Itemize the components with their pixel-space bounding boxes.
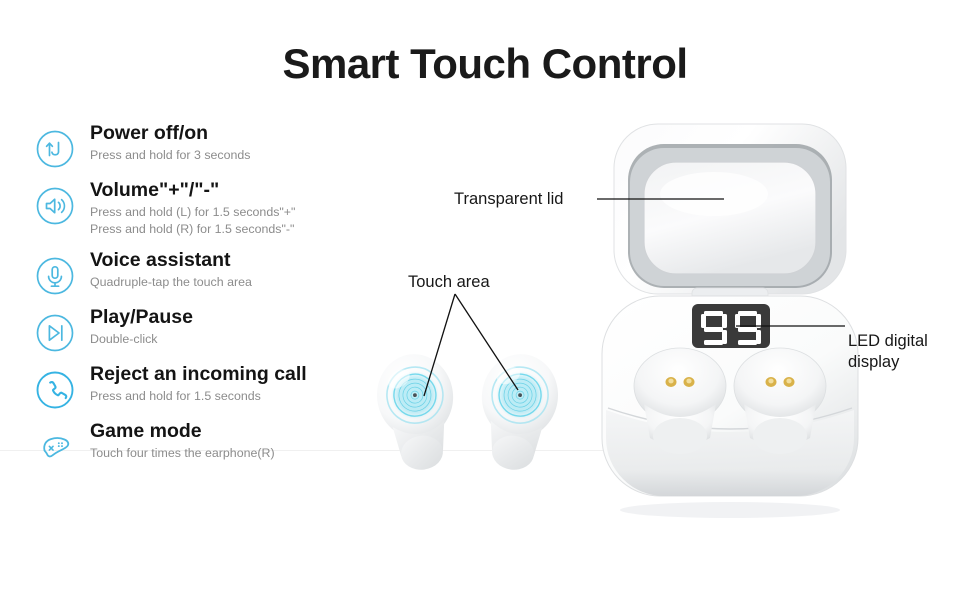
feature-subtitle: Press and hold for 3 seconds [90,147,368,164]
feature-subtitle-second: Press and hold (R) for 1.5 seconds"-" [90,221,368,238]
feature-item-voice-assistant: Voice assistant Quadruple-tap the touch … [28,249,368,295]
feature-title: Voice assistant [90,249,368,272]
feature-subtitle: Quadruple-tap the touch area [90,274,368,291]
feature-title: Volume"+"/"-" [90,179,368,202]
earbud-right [463,347,573,478]
feature-item-power: Power off/on Press and hold for 3 second… [28,122,368,168]
callout-led-digital-display: LED digital display [848,331,958,373]
feature-title: Game mode [90,420,368,443]
feature-title: Reject an incoming call [90,363,368,386]
feature-title: Play/Pause [90,306,368,329]
case-body-group [602,296,858,496]
earbud-left [362,347,472,478]
volume-speaker-icon [32,183,78,229]
feature-item-play-pause: Play/Pause Double-click [28,306,368,352]
feature-subtitle: Press and hold (L) for 1.5 seconds"+" [90,204,368,221]
feature-item-game-mode: Game mode Touch four times the earphone(… [28,420,368,466]
feature-subtitle: Press and hold for 1.5 seconds [90,388,368,405]
callout-transparent-lid: Transparent lid [454,189,563,210]
microphone-icon [32,253,78,299]
phone-handset-icon [32,367,78,413]
play-pause-icon [32,310,78,356]
feature-list: Power off/on Press and hold for 3 second… [28,122,368,477]
charging-case [596,118,864,518]
callout-touch-area: Touch area [408,272,490,293]
feature-subtitle: Touch four times the earphone(R) [90,445,368,462]
feature-item-volume: Volume"+"/"-" Press and hold (L) for 1.5… [28,179,368,238]
page-title: Smart Touch Control [0,40,970,88]
feature-item-reject-call: Reject an incoming call Press and hold f… [28,363,368,409]
gamepad-icon [32,424,78,470]
power-toggle-icon [32,126,78,172]
led-digital-display [692,304,770,348]
feature-subtitle: Double-click [90,331,368,348]
infographic-canvas: Smart Touch Control Power off/on Press a… [0,0,970,600]
feature-title: Power off/on [90,122,368,145]
case-lid-group [614,124,846,304]
